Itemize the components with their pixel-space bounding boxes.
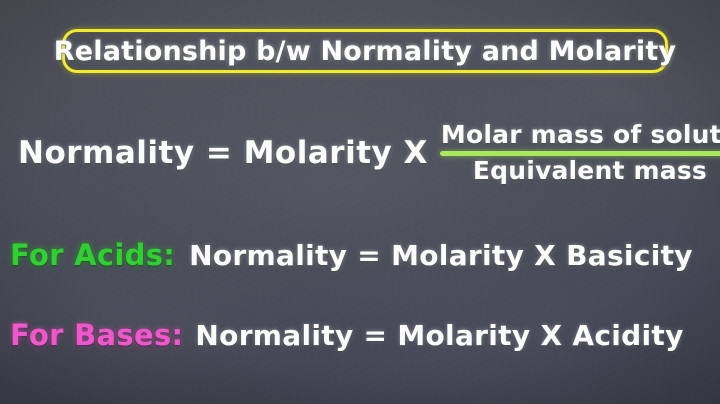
acids-label: For Acids: (10, 238, 175, 272)
title-banner: Relationship b/w Normality and Molarity (62, 29, 668, 73)
main-equation-left-side: Normality = Molarity X (18, 135, 428, 171)
main-equation: Normality = Molarity X Molar mass of sol… (0, 112, 720, 194)
acids-rule-row: For Acids: Normality = Molarity X Basici… (0, 228, 720, 282)
bases-rule-row: For Bases: Normality = Molarity X Acidit… (0, 308, 720, 362)
chalkboard-canvas: Relationship b/w Normality and Molarity … (0, 0, 720, 404)
fraction-denominator: Equivalent mass (473, 158, 707, 185)
bases-equation: Normality = Molarity X Acidity (195, 319, 683, 352)
page-title: Relationship b/w Normality and Molarity (54, 36, 677, 67)
fraction: Molar mass of solute Equivalent mass (440, 122, 720, 185)
fraction-numerator: Molar mass of solute (441, 122, 720, 149)
bases-label: For Bases: (10, 318, 183, 352)
acids-equation: Normality = Molarity X Basicity (189, 239, 693, 272)
